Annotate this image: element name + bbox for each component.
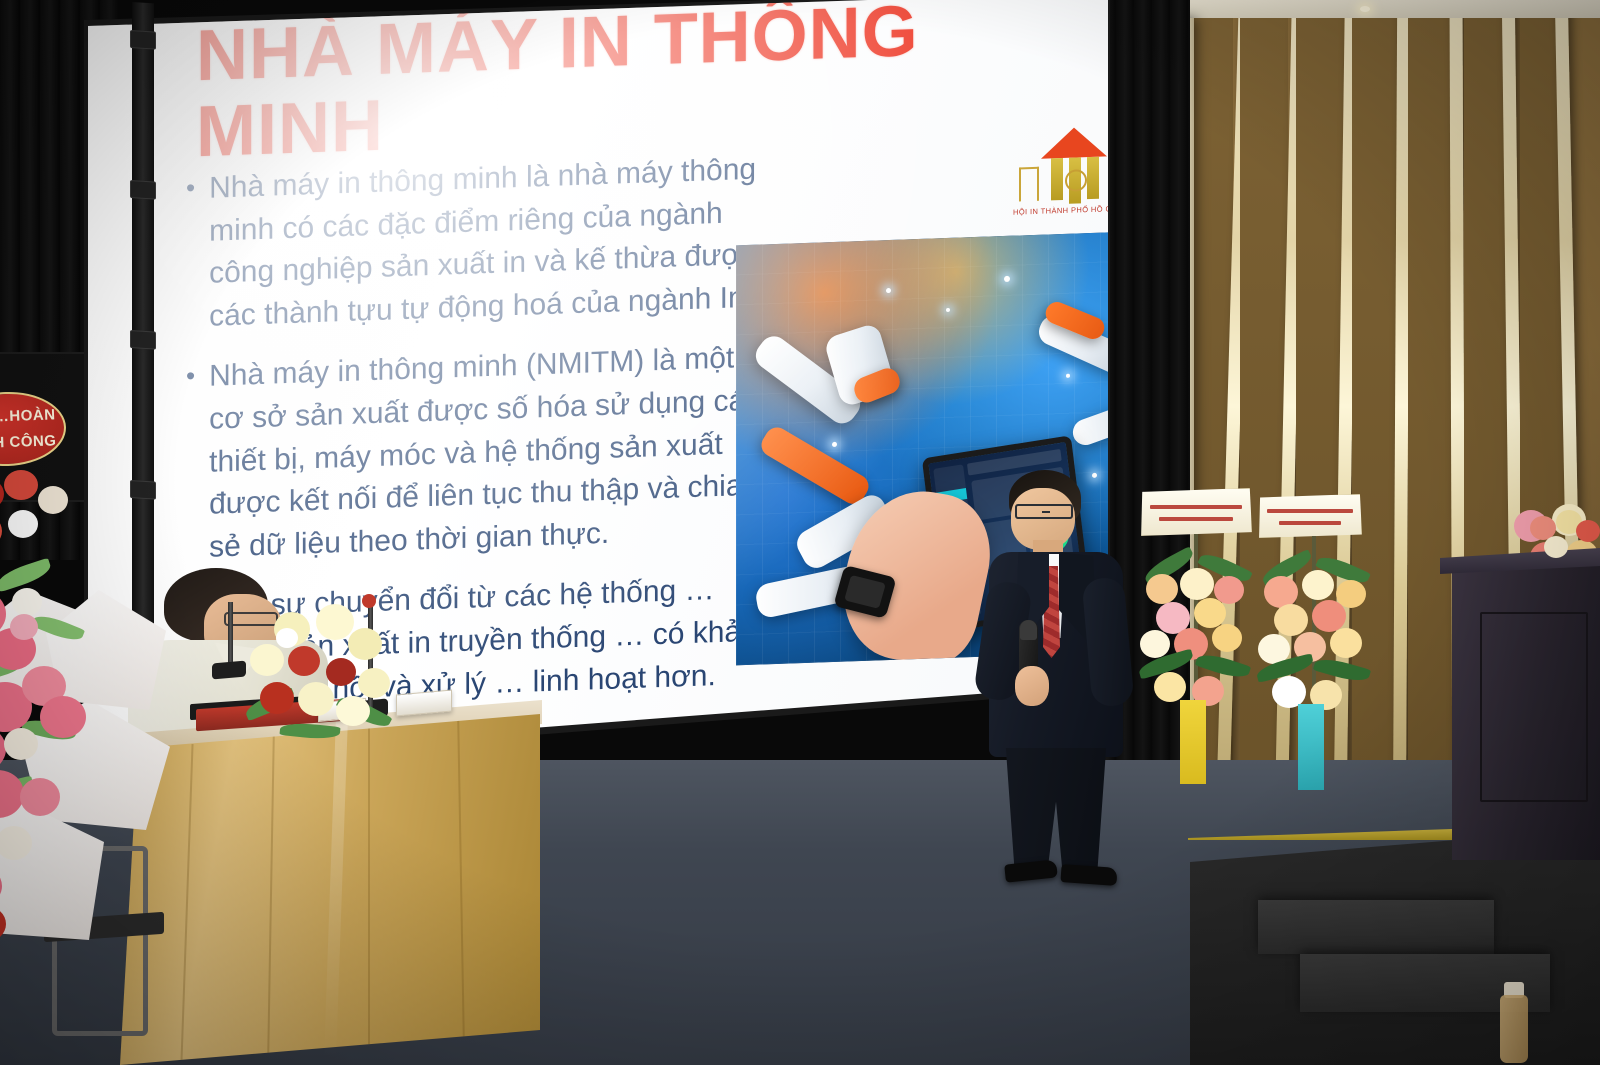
conference-scene: …HOÀN …NH CÔNG NHÀ MÁY IN THÔNG MINH • N… [0,0,1600,1065]
logo-ring-icon [1065,169,1087,192]
presenter-hand [1015,666,1049,706]
glasses-icon [1015,504,1073,519]
banner-line-2: …NH CÔNG [0,432,57,452]
shoe [1004,859,1058,882]
flower-stand-sign [1140,488,1252,536]
slide-title: NHÀ MÁY IN THÔNG MINH [196,0,996,171]
shoe [1060,864,1117,886]
banner-line-1: …HOÀN [0,406,56,425]
bullet-text: Nhà máy in thông minh (NMITM) là một cơ … [209,336,776,569]
presenter-legs [999,748,1113,876]
bullet-marker-icon: • [186,168,195,339]
stage-step-upper[interactable] [1258,900,1494,954]
stand-ribbon [1298,704,1324,790]
floor-bouquet-left [0,470,210,950]
ceiling-light-icon [1360,6,1370,12]
table-bouquet [240,600,400,750]
logo-caption: HỘI IN THÀNH PHỐ HỒ CHÍ MINH [1013,203,1108,216]
bullet-text: Nhà máy in thông minh là nhà máy thông m… [209,148,776,338]
stand-ribbon [1180,700,1206,784]
bullet-item: • Nhà máy in thông minh (NMITM) là một c… [186,336,776,570]
flower-stand [1136,488,1256,788]
logo-roof-icon [1041,126,1107,158]
podium-flowers [1528,508,1600,562]
flower-stand [1256,494,1376,794]
water-bottle[interactable] [1500,995,1528,1063]
presenter[interactable] [975,470,1135,880]
bullet-item: • Nhà máy in thông minh là nhà máy thông… [186,148,776,339]
podium-front-panel [1480,612,1588,802]
association-logo: HỘI IN THÀNH PHỐ HỒ CHÍ MINH [1013,123,1108,223]
flower-stand-sign [1258,494,1362,538]
